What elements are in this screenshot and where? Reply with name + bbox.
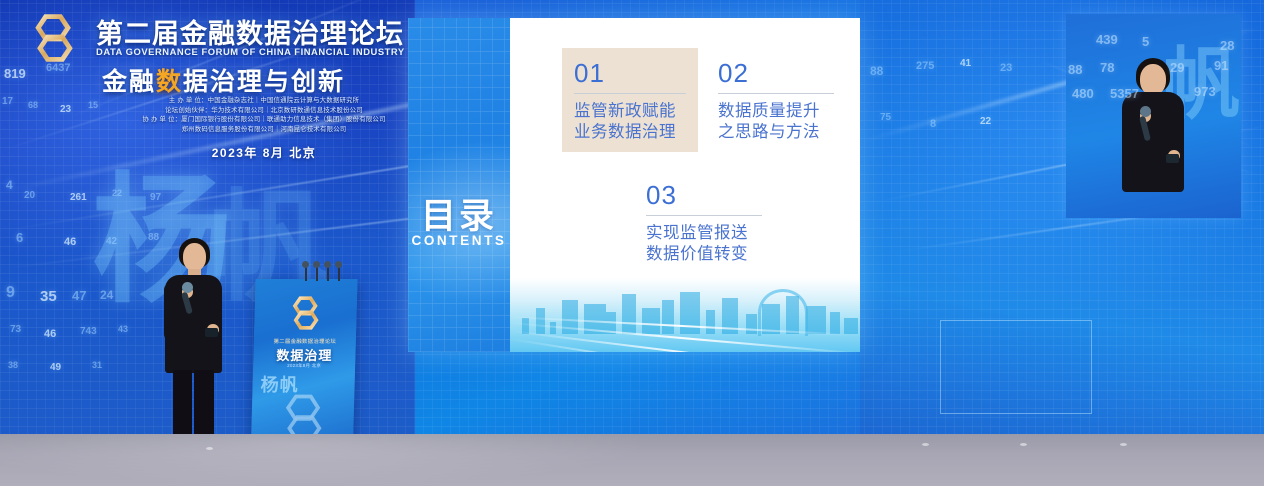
skyline-building bbox=[622, 294, 636, 334]
banner-date: 2023年 8月 北京 bbox=[114, 144, 414, 161]
feed-number: 29 bbox=[1170, 60, 1184, 75]
wall-number: 17 bbox=[2, 96, 13, 107]
organizer-line: 主 办 单 位：中国金融杂志社｜中国信通院云计算与大数据研究所 bbox=[114, 96, 414, 106]
wall-number: 38 bbox=[8, 360, 18, 370]
wall-number: 22 bbox=[980, 116, 991, 127]
wall-number: 46 bbox=[44, 328, 56, 340]
wall-number: 275 bbox=[916, 60, 934, 72]
wall-number: 43 bbox=[118, 324, 128, 334]
feed-number: 973 bbox=[1194, 84, 1216, 99]
toc-item-01: 01 监管新政赋能 业务数据治理 bbox=[562, 48, 698, 152]
toc-line-2: 业务数据治理 bbox=[574, 122, 686, 143]
wall-number: 6 bbox=[16, 230, 23, 245]
toc-divider bbox=[646, 215, 762, 216]
skyline-building bbox=[746, 314, 757, 334]
slide-title-panel: 目录 CONTENTS bbox=[408, 18, 510, 352]
live-video-feed: 帆 439588782991480535797328 bbox=[1066, 14, 1241, 218]
feed-number: 439 bbox=[1096, 32, 1118, 47]
skyline-building bbox=[706, 310, 715, 334]
banner-title-english: DATA GOVERNANCE FORUM OF CHINA FINANCIAL… bbox=[96, 46, 405, 57]
wall-number: 42 bbox=[106, 236, 117, 247]
wall-number: 41 bbox=[960, 58, 971, 69]
stage-floor-glow bbox=[0, 434, 1264, 486]
wall-number: 73 bbox=[10, 324, 21, 335]
toc-line-2: 数据价值转变 bbox=[646, 244, 762, 265]
banner-organizer-lines: 主 办 单 位：中国金融杂志社｜中国信通院云计算与大数据研究所 论坛创始伙伴：华… bbox=[114, 96, 414, 134]
feed-number: 78 bbox=[1100, 60, 1114, 75]
feed-number: 91 bbox=[1214, 58, 1228, 73]
wall-number: 4 bbox=[6, 178, 13, 192]
slide-section-title-cn: 目录 bbox=[408, 188, 510, 239]
event-banner: 第二届金融数据治理论坛 DATA GOVERNANCE FORUM OF CHI… bbox=[18, 4, 418, 170]
feed-number: 88 bbox=[1068, 62, 1082, 77]
feed-number: 5357 bbox=[1110, 86, 1139, 101]
banner-subtitle: 金融数据治理与创新 bbox=[102, 62, 345, 98]
toc-number: 01 bbox=[574, 58, 686, 89]
toc-line-1: 监管新政赋能 bbox=[574, 101, 686, 122]
forum-logo-icon bbox=[26, 12, 82, 64]
toc-divider bbox=[718, 93, 834, 94]
toc-item-03: 03 实现监管报送 数据价值转变 bbox=[634, 170, 774, 274]
floor-marker bbox=[206, 447, 213, 450]
conference-stage-photo: 杨 帆 819643717682315420261229764642889354… bbox=[0, 0, 1264, 486]
wall-number: 24 bbox=[100, 288, 113, 302]
wall-number: 88 bbox=[148, 232, 159, 243]
wall-number: 261 bbox=[70, 192, 87, 203]
skyline-building bbox=[536, 308, 545, 334]
slide-skyline-graphic bbox=[510, 278, 860, 352]
microphone-head-icon bbox=[335, 261, 342, 268]
floor-marker bbox=[1020, 443, 1027, 446]
skyline-building bbox=[830, 312, 840, 334]
toc-divider bbox=[574, 93, 686, 94]
wall-panel bbox=[940, 320, 1092, 414]
projected-slide: 目录 CONTENTS 01 监管新政赋能 业务数据治理 02 数据质量提升 之… bbox=[408, 18, 860, 352]
feed-number: 28 bbox=[1220, 38, 1234, 53]
podium-date: 2023年8月 北京 bbox=[253, 363, 355, 369]
wall-number: 22 bbox=[112, 188, 122, 198]
floor-marker bbox=[922, 443, 929, 446]
wall-number: 46 bbox=[64, 236, 76, 248]
podium-title: 第二届金融数据治理论坛 bbox=[254, 337, 356, 345]
organizer-line: 协 办 单 位：厦门国际银行股份有限公司｜联通助力信息技术（集团）股份有限公司 bbox=[114, 115, 414, 125]
skyline-building bbox=[642, 308, 660, 334]
toc-number: 02 bbox=[718, 58, 834, 89]
skyline-building bbox=[844, 318, 858, 334]
wall-number: 88 bbox=[870, 64, 883, 78]
wall-number: 75 bbox=[880, 112, 891, 123]
wall-number: 35 bbox=[40, 288, 57, 305]
floor-marker bbox=[1120, 443, 1127, 446]
skyline-building bbox=[806, 306, 826, 334]
toc-item-02: 02 数据质量提升 之思路与方法 bbox=[706, 48, 846, 152]
wall-number: 49 bbox=[50, 362, 61, 373]
podium-logo-icon bbox=[285, 295, 326, 331]
wall-number: 9 bbox=[6, 284, 15, 302]
wall-number: 20 bbox=[24, 190, 35, 201]
microphone-head-icon bbox=[302, 261, 309, 268]
wall-number: 23 bbox=[1000, 62, 1012, 74]
organizer-line: 郑州数码信息服务股份有限公司｜河南昆仑技术有限公司 bbox=[114, 125, 414, 135]
microphone-head-icon bbox=[324, 261, 331, 268]
toc-line-1: 数据质量提升 bbox=[718, 101, 834, 122]
toc-line-1: 实现监管报送 bbox=[646, 223, 762, 244]
toc-number: 03 bbox=[646, 180, 762, 211]
feed-number: 5 bbox=[1142, 34, 1149, 49]
wall-number: 743 bbox=[80, 326, 97, 337]
skyline-building bbox=[662, 300, 674, 334]
wall-number: 97 bbox=[150, 192, 161, 203]
feed-number: 480 bbox=[1072, 86, 1094, 101]
podium-big-text: 数据治理 bbox=[253, 345, 356, 364]
microphone-head-icon bbox=[313, 261, 320, 268]
wall-number: 8 bbox=[930, 118, 936, 130]
slide-section-title-en: CONTENTS bbox=[408, 233, 510, 248]
toc-line-2: 之思路与方法 bbox=[718, 122, 834, 143]
wall-number: 31 bbox=[92, 360, 102, 370]
organizer-line: 论坛创始伙伴：华为技术有限公司｜北京数研数通信息技术股份公司 bbox=[114, 106, 414, 116]
wall-number: 47 bbox=[72, 288, 86, 303]
